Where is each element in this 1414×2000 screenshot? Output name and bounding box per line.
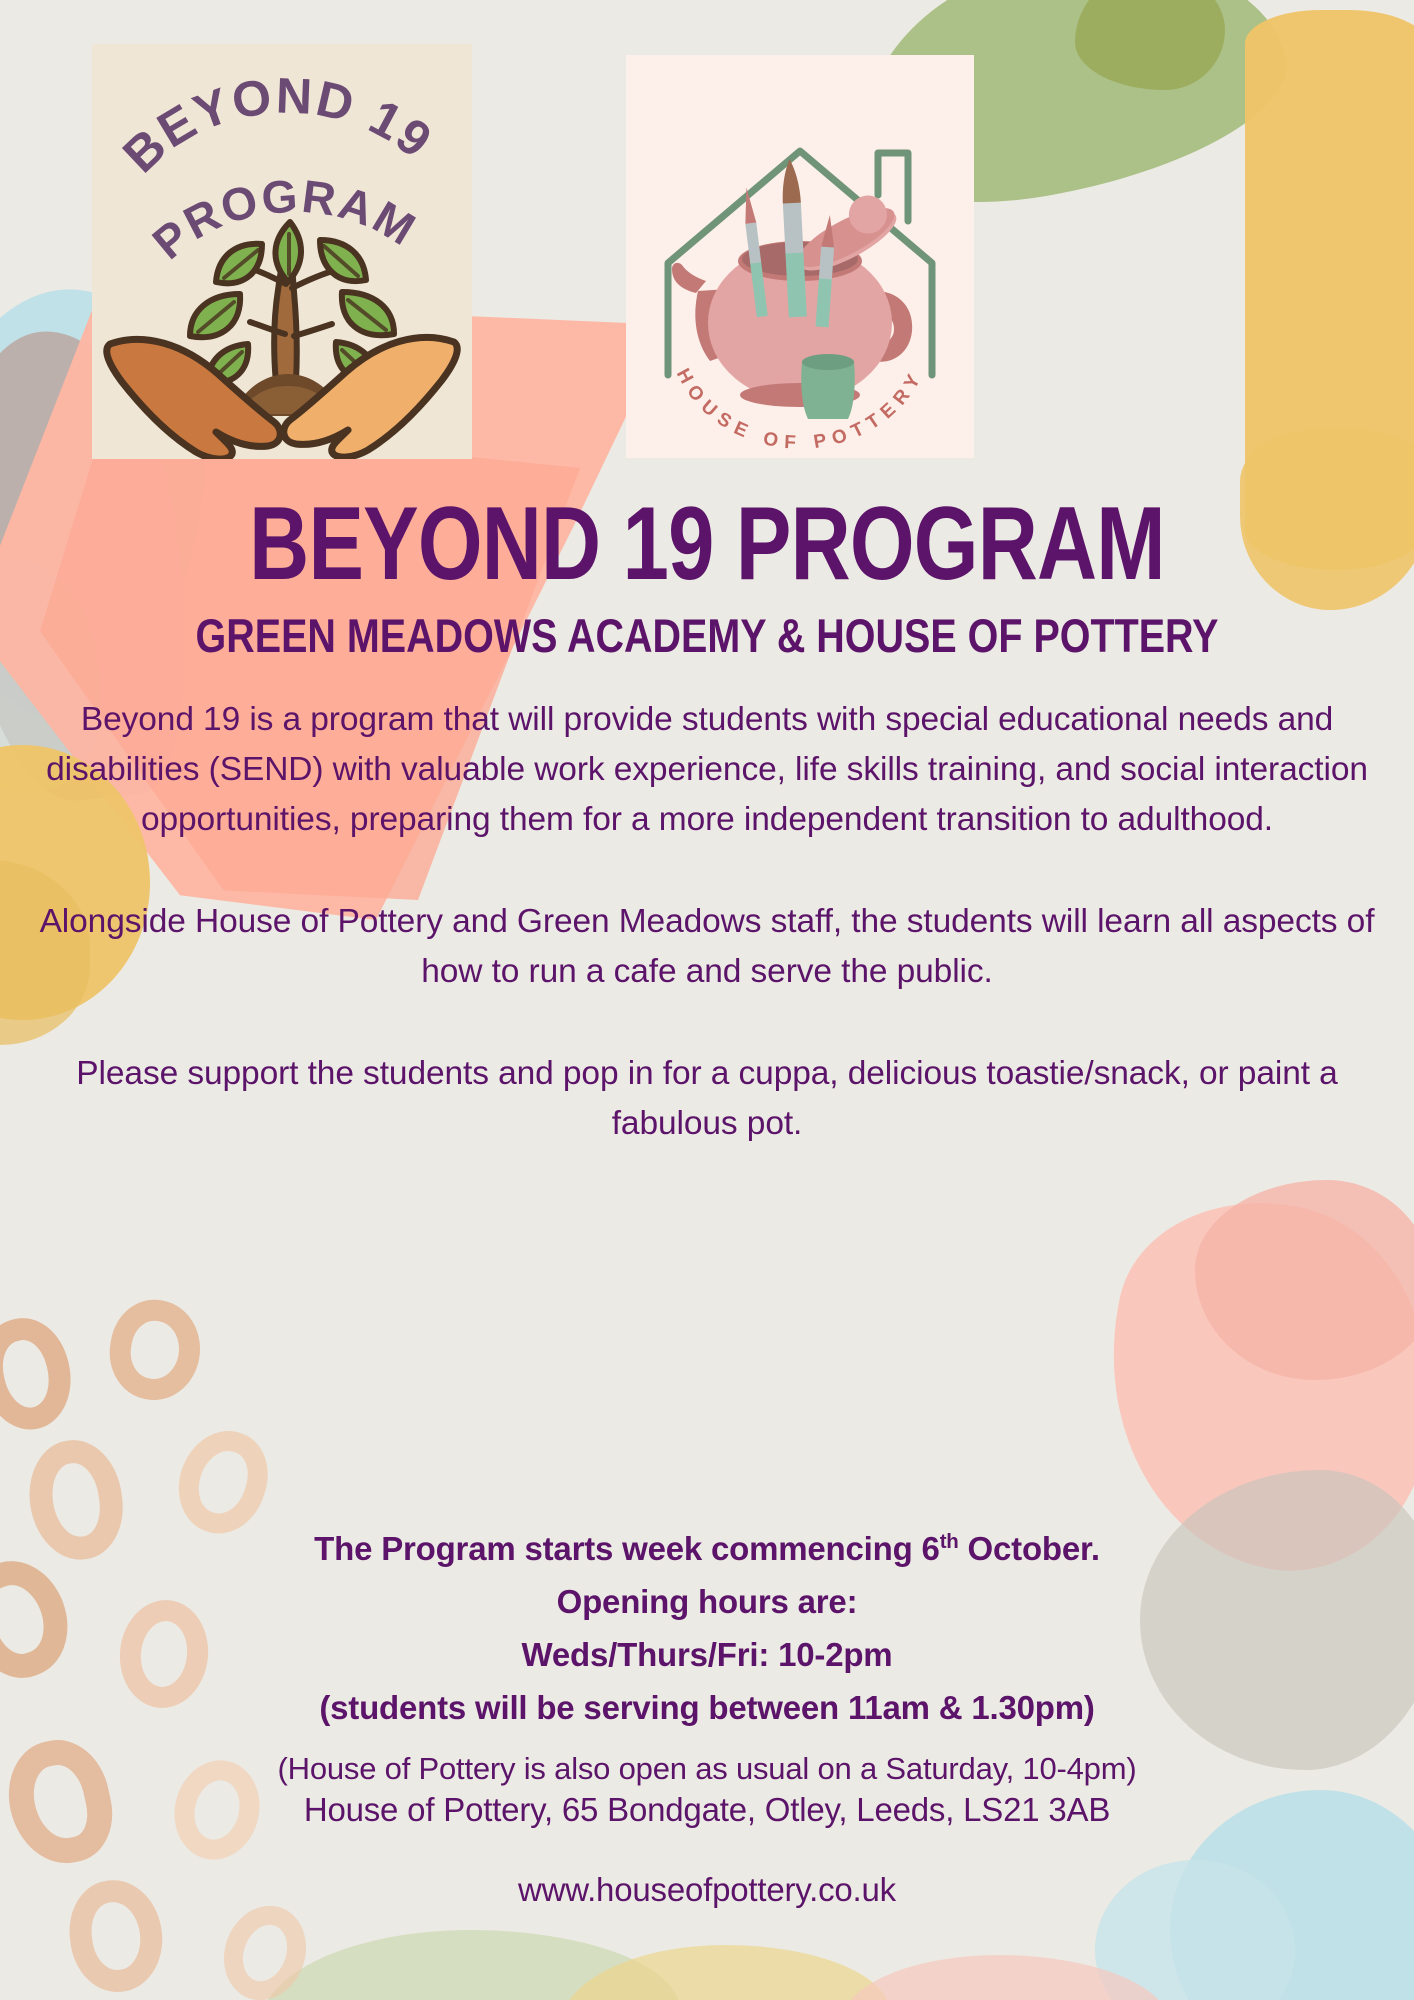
serving-times-note: (students will be serving between 11am &…	[0, 1681, 1414, 1734]
opening-hours-label: Opening hours are:	[0, 1575, 1414, 1628]
website-url[interactable]: www.houseofpottery.co.uk	[0, 1869, 1414, 1911]
watercolor-ring	[102, 1293, 208, 1407]
paragraph-cafe: Alongside House of Pottery and Green Mea…	[0, 897, 1414, 997]
beyond-19-program-logo: BEYOND 19 PROGRAM	[92, 44, 472, 459]
start-date-line: The Program starts week commencing 6th O…	[0, 1522, 1414, 1575]
watercolor-ring	[0, 1309, 82, 1439]
pink-brush-shape-bottom-right-inner	[1195, 1180, 1414, 1380]
mug-icon	[801, 354, 855, 419]
page-title: BEYOND 19 PROGRAM	[141, 492, 1272, 596]
footer-block: (House of Pottery is also open as usual …	[0, 1747, 1414, 1911]
house-of-pottery-logo: HOUSE OF POTTERY	[626, 55, 974, 458]
poster-canvas: BEYOND 19 PROGRAM	[0, 0, 1414, 2000]
page-subtitle: GREEN MEADOWS ACADEMY & HOUSE OF POTTERY	[113, 612, 1301, 659]
pink-shape-bottom	[840, 1955, 1170, 2000]
program-details: The Program starts week commencing 6th O…	[0, 1522, 1414, 1734]
logo-row: BEYOND 19 PROGRAM	[0, 0, 1414, 470]
start-date-prefix: The Program starts week commencing 6	[314, 1530, 940, 1567]
green-shape-bottom	[260, 1930, 680, 2000]
venue-address: House of Pottery, 65 Bondgate, Otley, Le…	[0, 1789, 1414, 1831]
body-copy: Beyond 19 is a program that will provide…	[0, 695, 1414, 1149]
opening-hours-days: Weds/Thurs/Fri: 10-2pm	[0, 1628, 1414, 1681]
yellow-shape-bottom	[560, 1945, 890, 2000]
start-date-ordinal: th	[940, 1530, 959, 1553]
paragraph-intro: Beyond 19 is a program that will provide…	[0, 695, 1414, 845]
start-date-suffix: October.	[959, 1530, 1100, 1567]
heading-block: BEYOND 19 PROGRAM GREEN MEADOWS ACADEMY …	[0, 492, 1414, 659]
saturday-opening-note: (House of Pottery is also open as usual …	[0, 1747, 1414, 1791]
paragraph-support: Please support the students and pop in f…	[0, 1049, 1414, 1149]
